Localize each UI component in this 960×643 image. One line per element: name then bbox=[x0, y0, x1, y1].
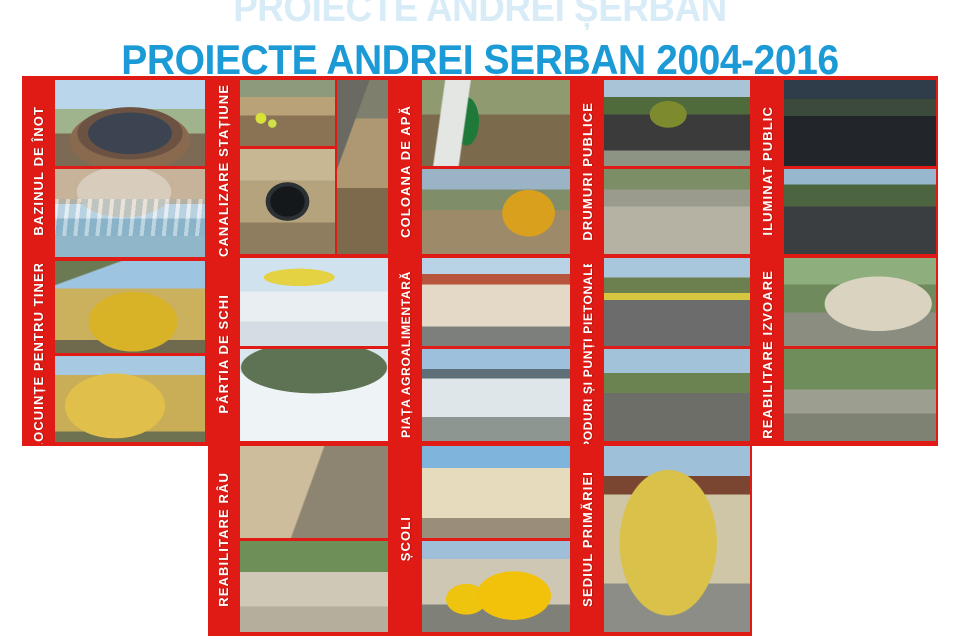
label-locuinte-pentru-tineri: LOCUINȚE PENTRU TINERI bbox=[24, 264, 52, 444]
photo-pool-exterior bbox=[55, 80, 205, 166]
poster: PROIECTE ANDREI ȘERBAN PROIECTE ANDREI Ș… bbox=[0, 0, 960, 643]
label-partia-de-schi: PÂRTIA DE SCHI bbox=[210, 264, 237, 444]
label-text: CANALIZARE STAȚIUNE bbox=[217, 84, 230, 257]
photo-surface bbox=[55, 261, 205, 353]
label-text: BAZINUL DE ÎNOT bbox=[32, 106, 45, 236]
photo-sewer-trench-2 bbox=[337, 80, 388, 254]
label-text: REABILITARE IZVOARE bbox=[761, 270, 774, 439]
photo-river-wall bbox=[240, 446, 388, 538]
photo-market-new bbox=[422, 349, 570, 441]
photo-market-old bbox=[422, 258, 570, 346]
photo-ped-bridge bbox=[604, 349, 750, 441]
photo-surface bbox=[422, 541, 570, 632]
photo-ski-slope bbox=[240, 349, 388, 441]
photo-surface bbox=[422, 446, 570, 538]
label-text: DRUMURI PUBLICE bbox=[581, 102, 594, 241]
photo-pool-interior bbox=[55, 169, 205, 257]
photo-surface bbox=[240, 149, 335, 254]
photo-road-night bbox=[784, 80, 936, 166]
photo-surface bbox=[240, 446, 388, 538]
photo-ski-lift bbox=[240, 258, 388, 346]
photo-river-bed bbox=[240, 541, 388, 632]
label-text: REABILITARE RÂU bbox=[217, 472, 230, 607]
photo-surface bbox=[604, 349, 750, 441]
photo-school-building bbox=[422, 446, 570, 538]
photo-road-gravel bbox=[604, 169, 750, 254]
photo-water-excavator bbox=[422, 169, 570, 254]
photo-surface bbox=[784, 349, 936, 441]
photo-surface bbox=[784, 258, 936, 346]
photo-surface bbox=[784, 169, 936, 254]
photo-surface bbox=[604, 169, 750, 254]
label-canalizare-statiune: CANALIZARE STAȚIUNE bbox=[210, 78, 237, 264]
ghost-title-fragment: PROIECTE ANDREI ȘERBAN bbox=[38, 0, 921, 31]
photo-school-buses bbox=[422, 541, 570, 632]
photo-apartments-2 bbox=[55, 356, 205, 442]
label-text: ȘCOLI bbox=[399, 516, 412, 561]
photo-surface bbox=[240, 349, 388, 441]
label-text: PÂRTIA DE SCHI bbox=[217, 294, 230, 414]
label-sediul-primariei: SEDIUL PRIMĂRIEI bbox=[574, 444, 601, 634]
photo-surface bbox=[784, 80, 936, 166]
label-drumuri-publice: DRUMURI PUBLICE bbox=[574, 78, 601, 264]
photo-city-hall bbox=[604, 446, 750, 632]
label-text: PIAȚA AGROALIMENTARĂ bbox=[400, 271, 412, 438]
photo-water-pipe bbox=[422, 80, 570, 166]
photo-surface bbox=[55, 169, 205, 257]
photo-surface bbox=[422, 349, 570, 441]
photo-surface bbox=[422, 258, 570, 346]
photo-surface bbox=[604, 258, 750, 346]
project-collage: BAZINUL DE ÎNOT LOCUINȚE PENTRU TINERI C… bbox=[22, 76, 938, 636]
photo-surface bbox=[604, 80, 750, 166]
label-text: ILUMINAT PUBLIC bbox=[761, 106, 774, 236]
photo-road-town bbox=[784, 169, 936, 254]
label-bazinul-de-inot: BAZINUL DE ÎNOT bbox=[24, 78, 52, 264]
photo-road-bridge bbox=[604, 258, 750, 346]
photo-sewer-trench-1 bbox=[240, 80, 335, 146]
photo-surface bbox=[55, 356, 205, 442]
label-scoli: ȘCOLI bbox=[392, 444, 419, 634]
photo-surface bbox=[240, 258, 388, 346]
photo-surface bbox=[422, 80, 570, 166]
label-reabilitare-rau: REABILITARE RÂU bbox=[210, 444, 237, 634]
photo-surface bbox=[337, 80, 388, 254]
label-piata-agroalimentara: PIAȚA AGROALIMENTARĂ bbox=[392, 264, 419, 444]
label-reabilitare-izvoare: REABILITARE IZVOARE bbox=[754, 264, 781, 444]
label-poduri-si-punti-pietonale: PODURI ȘI PUNȚI PIETONALE bbox=[574, 264, 601, 444]
photo-sewer-manhole bbox=[240, 149, 335, 254]
photo-surface bbox=[422, 169, 570, 254]
photo-surface bbox=[55, 80, 205, 166]
photo-surface bbox=[240, 80, 335, 146]
photo-surface bbox=[240, 541, 388, 632]
photo-road-paving bbox=[604, 80, 750, 166]
label-iluminat-public: ILUMINAT PUBLIC bbox=[754, 78, 781, 264]
label-text: PODURI ȘI PUNȚI PIETONALE bbox=[582, 264, 594, 444]
photo-spring-2 bbox=[784, 349, 936, 441]
photo-apartments-1 bbox=[55, 261, 205, 353]
photo-spring-1 bbox=[784, 258, 936, 346]
label-text: SEDIUL PRIMĂRIEI bbox=[581, 471, 594, 607]
label-text: COLOANA DE APĂ bbox=[399, 105, 412, 238]
label-text: LOCUINȚE PENTRU TINERI bbox=[32, 264, 45, 444]
label-coloana-de-apa: COLOANA DE APĂ bbox=[392, 78, 419, 264]
photo-surface bbox=[604, 446, 750, 632]
